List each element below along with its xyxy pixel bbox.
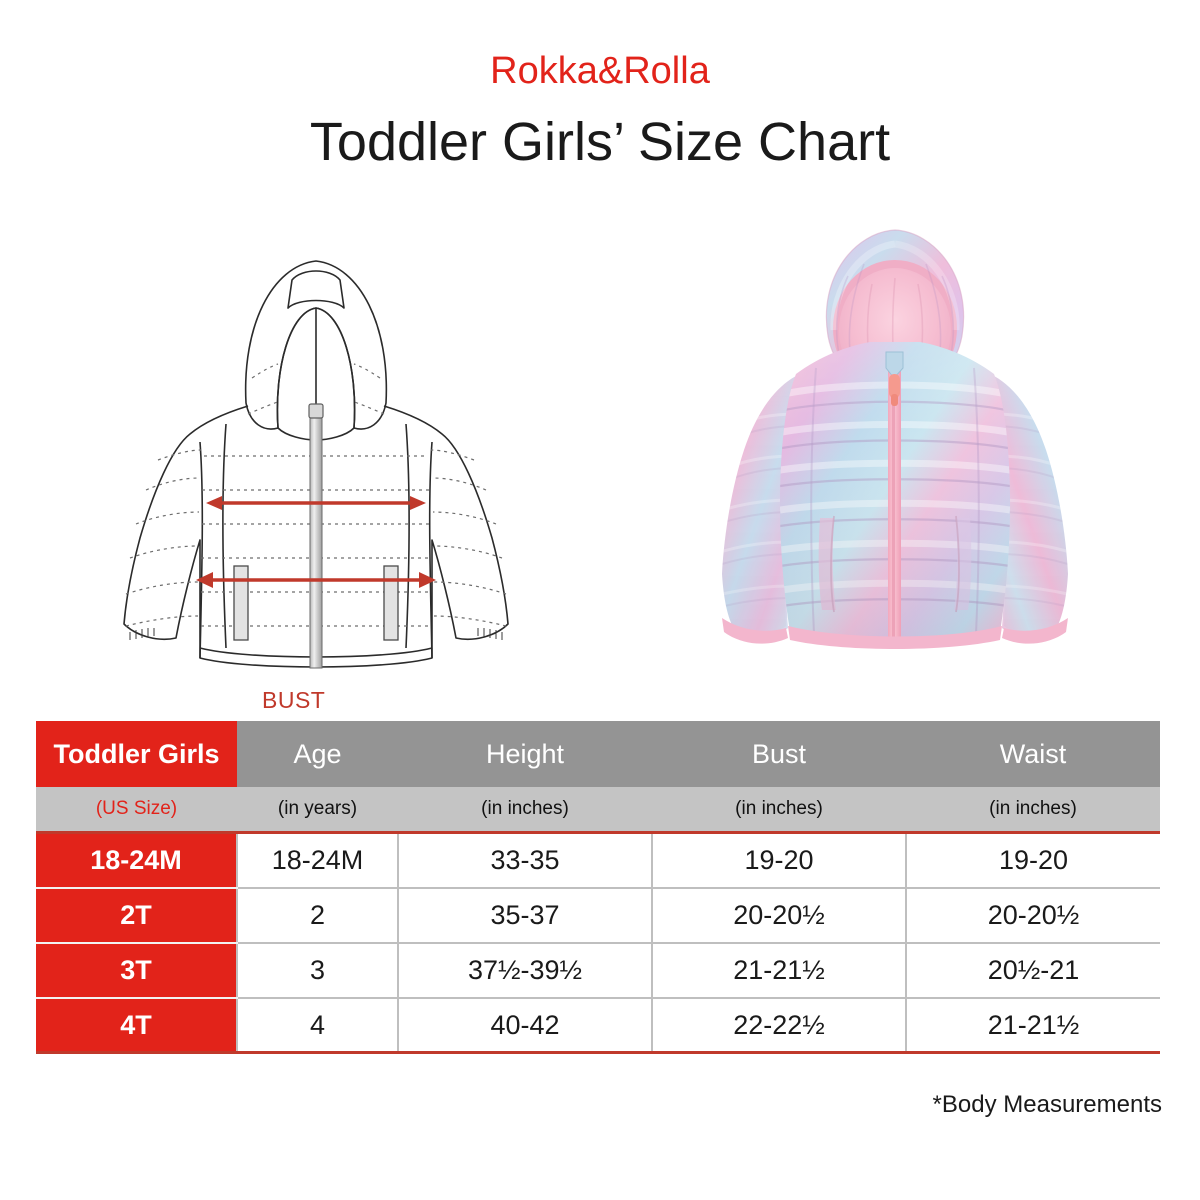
row-waist: 20-20½ [906, 888, 1160, 943]
units-waist: (in inches) [906, 787, 1160, 833]
row-age: 2 [237, 888, 398, 943]
row-height: 35-37 [398, 888, 652, 943]
column-header-age: Age [237, 721, 398, 787]
row-height: 40-42 [398, 998, 652, 1052]
row-waist: 19-20 [906, 833, 1160, 889]
row-bust: 19-20 [652, 833, 906, 889]
table-row: 18-24M 18-24M 33-35 19-20 19-20 [36, 833, 1160, 889]
table-units-row: (US Size) (in years) (in inches) (in inc… [36, 787, 1160, 833]
row-size: 3T [36, 943, 237, 998]
row-bust: 20-20½ [652, 888, 906, 943]
table-row: 2T 2 35-37 20-20½ 20-20½ [36, 888, 1160, 943]
column-header-waist: Waist [906, 721, 1160, 787]
row-size: 4T [36, 998, 237, 1052]
column-header-size: Toddler Girls [36, 721, 237, 787]
row-age: 18-24M [237, 833, 398, 889]
table-bottom-rule [36, 1051, 1160, 1054]
row-bust: 21-21½ [652, 943, 906, 998]
units-bust: (in inches) [652, 787, 906, 833]
illustration-row: BUST WAIST [0, 218, 1200, 688]
column-header-bust: Bust [652, 721, 906, 787]
bust-measure-label: BUST [262, 687, 325, 714]
jacket-product-photo [700, 218, 1090, 688]
row-height: 37½-39½ [398, 943, 652, 998]
units-size: (US Size) [36, 787, 237, 833]
row-bust: 22-22½ [652, 998, 906, 1052]
table-row: 3T 3 37½-39½ 21-21½ 20½-21 [36, 943, 1160, 998]
row-age: 3 [237, 943, 398, 998]
row-size: 18-24M [36, 833, 237, 889]
column-header-height: Height [398, 721, 652, 787]
page-title: Toddler Girls’ Size Chart [0, 114, 1200, 171]
row-waist: 21-21½ [906, 998, 1160, 1052]
table-row: 4T 4 40-42 22-22½ 21-21½ [36, 998, 1160, 1052]
table-header-row: Toddler Girls Age Height Bust Waist [36, 721, 1160, 787]
jacket-technical-drawing [96, 228, 536, 678]
units-age: (in years) [237, 787, 398, 833]
row-size: 2T [36, 888, 237, 943]
brand-name: Rokka&Rolla [0, 52, 1200, 90]
row-waist: 20½-21 [906, 943, 1160, 998]
units-height: (in inches) [398, 787, 652, 833]
row-age: 4 [237, 998, 398, 1052]
row-height: 33-35 [398, 833, 652, 889]
size-chart-table: Toddler Girls Age Height Bust Waist (US … [36, 721, 1160, 1052]
body-measurements-note: *Body Measurements [933, 1091, 1162, 1119]
